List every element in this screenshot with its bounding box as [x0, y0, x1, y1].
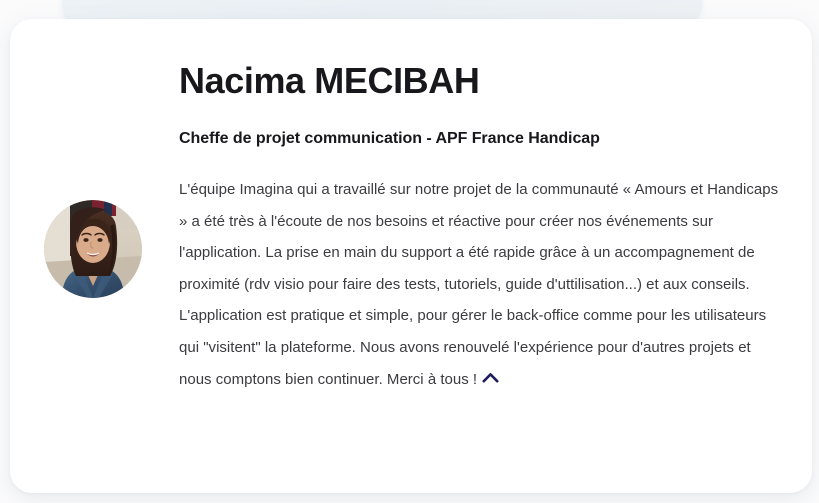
avatar	[44, 200, 142, 298]
page-title: Nacima MECIBAH	[179, 59, 789, 103]
testimonial-body: L'équipe Imagina qui a travaillé sur not…	[179, 181, 778, 388]
testimonial-content: Nacima MECIBAH Cheffe de projet communic…	[179, 59, 789, 395]
chevron-up-icon[interactable]	[482, 372, 499, 383]
person-role: Cheffe de projet communication - APF Fra…	[179, 103, 789, 150]
page-background: Nacima MECIBAH Cheffe de projet communic…	[0, 0, 819, 503]
testimonial-card: Nacima MECIBAH Cheffe de projet communic…	[10, 19, 812, 493]
testimonial-text: L'équipe Imagina qui a travaillé sur not…	[179, 150, 779, 395]
